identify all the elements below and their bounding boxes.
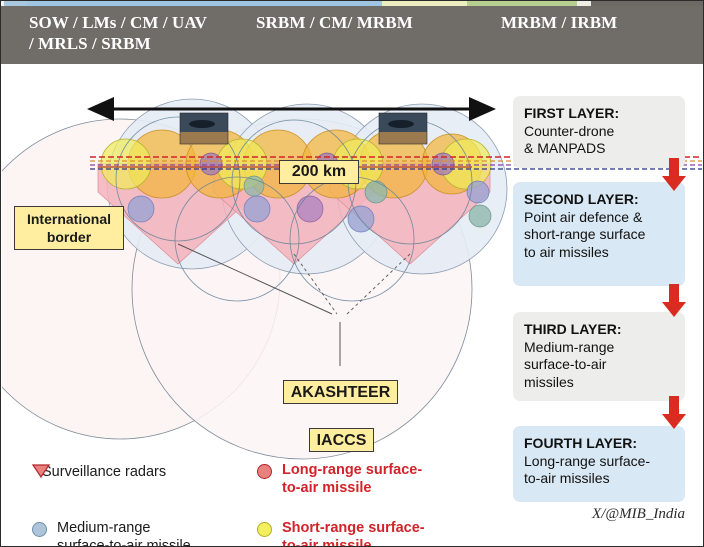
layer-card-title: FIRST LAYER: xyxy=(524,105,619,121)
legend-label: Long-range surface- to-air missile xyxy=(282,462,422,497)
header-column-2: SRBM / CM/ MRBM xyxy=(256,12,486,33)
aircraft-thumbnail-right xyxy=(379,113,427,144)
legend-item-medium-range-sam: Medium-range surface-to-air missile xyxy=(32,520,262,547)
legend-label: Surveillance radars xyxy=(42,464,166,482)
header-column-1: SOW / LMs / CM / UAV / MRLS / SRBM xyxy=(29,12,259,54)
layer-card-body: Point air defence & short-range surface … xyxy=(524,209,674,262)
down-arrow-icon-3 xyxy=(661,396,687,430)
legend-item-short-range-sam: Short-range surface- to-air missile xyxy=(257,520,492,547)
distance-label: 200 km xyxy=(279,160,359,184)
header-column-3: MRBM / IRBM xyxy=(501,12,701,33)
legend-item-surveillance-radars: Surveillance radars xyxy=(32,464,262,482)
layer-card-1: FIRST LAYER:Counter-drone & MANPADS xyxy=(513,96,685,168)
layer-card-title: THIRD LAYER: xyxy=(524,321,622,337)
legend: Surveillance radars Long-range surface- … xyxy=(32,464,492,547)
short-range-sam-icon xyxy=(257,522,272,537)
iaccs-label: IACCS xyxy=(309,428,374,452)
legend-item-long-range-sam: Long-range surface- to-air missile xyxy=(257,462,492,497)
medium-range-sam-icon xyxy=(32,522,47,537)
layer-card-title: FOURTH LAYER: xyxy=(524,435,637,451)
layer-card-body: Medium-range surface-to-air missiles xyxy=(524,339,674,392)
legend-label: Medium-range surface-to-air missile xyxy=(57,520,191,547)
akashteer-label: AKASHTEER xyxy=(283,380,398,404)
layer-card-body: Counter-drone & MANPADS xyxy=(524,123,674,158)
credit-handle: X/@MIB_India xyxy=(513,506,691,523)
layer-card-body: Long-range surface- to-air missiles xyxy=(524,453,674,488)
aircraft-thumbnail-left xyxy=(180,113,228,144)
threat-header-band: SOW / LMs / CM / UAV / MRLS / SRBM SRBM … xyxy=(1,6,704,64)
international-border-label: International border xyxy=(14,206,124,250)
legend-label: Short-range surface- to-air missile xyxy=(282,520,425,547)
layer-card-3: THIRD LAYER:Medium-range surface-to-air … xyxy=(513,312,685,401)
long-range-sam-icon xyxy=(257,464,272,479)
infographic-root: SOW / LMs / CM / UAV / MRLS / SRBM SRBM … xyxy=(0,0,704,547)
layer-card-4: FOURTH LAYER:Long-range surface- to-air … xyxy=(513,426,685,502)
layer-card-2: SECOND LAYER:Point air defence & short-r… xyxy=(513,182,685,286)
layer-card-title: SECOND LAYER: xyxy=(524,191,639,207)
down-arrow-icon-2 xyxy=(661,284,687,318)
down-arrow-icon-1 xyxy=(661,158,687,192)
